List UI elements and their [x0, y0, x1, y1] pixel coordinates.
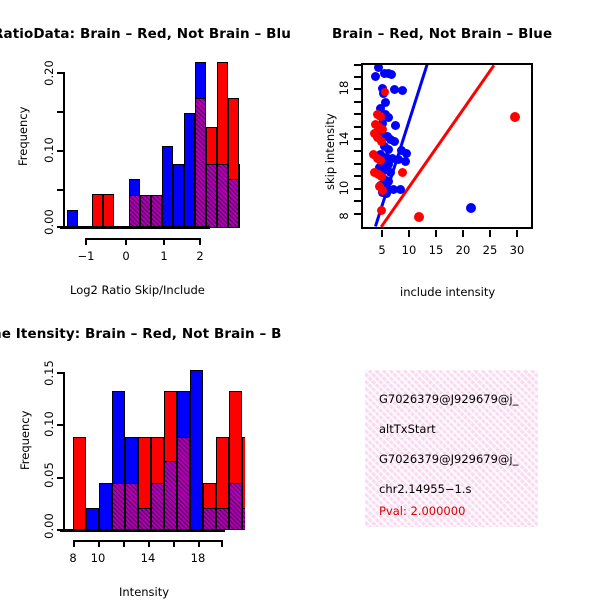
panel-intensity-histogram: ne Itensity: Brain – Red, Not Brain – B … — [0, 300, 300, 600]
bar-blue — [86, 508, 99, 530]
bar-purple — [140, 195, 151, 228]
intensity-ytick-0.00: 0.00 — [42, 509, 56, 543]
info-panel: G7026379@J929679@j_ altTxStart G7026379@… — [365, 370, 538, 527]
bar-blue — [173, 164, 184, 228]
ratio-xtick-2: 2 — [185, 249, 215, 263]
scatter-ytick-mark-15 — [354, 126, 361, 128]
bar-blue — [184, 113, 195, 228]
bar-purple — [195, 98, 206, 228]
intensity-xtick-mark-14 — [148, 540, 150, 547]
scatter-xlabel: include intensity — [400, 285, 495, 299]
ratio-ytick-0.20: 0.20 — [42, 56, 56, 90]
scatter-point — [391, 121, 400, 130]
intensity-xtick-mark-16 — [173, 540, 175, 547]
scatter-point — [401, 157, 410, 166]
bar-purple — [216, 508, 229, 530]
panel-info: G7026379@J929679@j_ altTxStart G7026379@… — [300, 300, 600, 600]
bar-red — [103, 194, 114, 228]
bar-purple — [228, 179, 239, 228]
scatter-ytick-mark-20 — [354, 64, 361, 66]
scatter-ytick-mark-9 — [354, 200, 361, 202]
intensity-histogram-ylabel: Frequency — [18, 411, 32, 470]
scatter-xtick-mark-20 — [462, 230, 464, 237]
scatter-point — [466, 203, 476, 213]
ratio-histogram-ylabel: Frequency — [16, 107, 30, 166]
scatter-ytick-mark-18 — [354, 88, 361, 90]
scatter-point — [398, 86, 407, 95]
scatter-ytick-14: 14 — [337, 126, 351, 152]
bar-red — [73, 437, 86, 530]
scatter-ytick-mark-13 — [354, 150, 361, 152]
bar-red — [239, 164, 240, 228]
info-line-3: G7026379@J929679@j_ — [379, 452, 518, 466]
panel-ratio-histogram: RatioData: Brain – Red, Not Brain – Blu … — [0, 0, 300, 300]
intensity-xtick-10: 10 — [84, 551, 112, 565]
ratio-xtick--1: −1 — [71, 249, 101, 263]
scatter-ytick-mark-10 — [354, 188, 361, 190]
bar-purple — [206, 164, 217, 228]
bar-blue — [99, 483, 112, 530]
scatter-ytick-18: 18 — [337, 75, 351, 101]
scatter-point — [377, 137, 386, 146]
scatter-xtick-mark-15 — [435, 230, 437, 237]
intensity-xtick-mark-8 — [73, 540, 75, 547]
scatter-plot-area — [363, 65, 531, 227]
scatter-ytick-mark-8 — [354, 213, 361, 215]
figure-canvas: RatioData: Brain – Red, Not Brain – Blu … — [0, 0, 600, 600]
scatter-ytick-mark-19 — [354, 76, 361, 78]
intensity-xtick-mark-20 — [221, 540, 223, 547]
scatter-ytick-10: 10 — [337, 175, 351, 201]
intensity-ytick-0.05: 0.05 — [42, 458, 56, 492]
intensity-xtick-mark-12 — [123, 540, 125, 547]
bar-red — [92, 194, 103, 228]
scatter-ytick-mark-12 — [354, 163, 361, 165]
scatter-point — [378, 186, 387, 195]
scatter-xtick-mark-10 — [408, 230, 410, 237]
scatter-ylabel: skip intensity — [323, 113, 337, 190]
bar-purple — [203, 508, 216, 530]
ratio-baseline — [60, 226, 210, 229]
bar-purple — [151, 483, 164, 530]
scatter-xtick-mark-25 — [489, 230, 491, 237]
ratio-histogram-xlabel: Log2 Ratio Skip/Include — [70, 283, 205, 297]
bar-purple — [125, 483, 138, 530]
info-line-2: altTxStart — [379, 422, 436, 436]
scatter-xtick-mark-30 — [516, 230, 518, 237]
intensity-xtick-14: 14 — [134, 551, 162, 565]
bar-purple — [217, 164, 228, 228]
scatter-point — [414, 212, 424, 222]
intensity-ytick-0.15: 0.15 — [42, 356, 56, 390]
scatter-point — [387, 70, 396, 79]
bar-blue — [190, 370, 203, 530]
ratio-xtick-mark-2 — [199, 238, 201, 245]
intensity-histogram-plot-area — [60, 360, 245, 532]
intensity-histogram-xlabel: Intensity — [119, 585, 169, 599]
scatter-xtick-30: 30 — [503, 243, 531, 257]
scatter-xtick-15: 15 — [422, 243, 450, 257]
panel-intensity-scatter: Brain – Red, Not Brain – Blue skip inten… — [300, 0, 600, 300]
ratio-ytick-0.00: 0.00 — [42, 205, 56, 239]
bar-purple — [151, 195, 162, 228]
scatter-ytick-mark-14 — [354, 138, 361, 140]
scatter-xtick-5: 5 — [368, 243, 396, 257]
intensity-baseline — [60, 529, 225, 532]
scatter-title: Brain – Red, Not Brain – Blue — [332, 26, 552, 42]
bar-purple — [129, 195, 140, 228]
info-line-4: chr2.14955−1.s — [379, 482, 472, 496]
ratio-xtick-mark-0 — [125, 238, 127, 245]
intensity-ytick-0.10: 0.10 — [42, 407, 56, 441]
intensity-histogram-title: ne Itensity: Brain – Red, Not Brain – B — [0, 326, 282, 342]
scatter-point — [396, 185, 405, 194]
scatter-ytick-8: 8 — [337, 203, 351, 229]
ratio-histogram-title: RatioData: Brain – Red, Not Brain – Blu — [0, 26, 291, 42]
bar-purple — [138, 508, 151, 530]
scatter-point — [398, 168, 407, 177]
scatter-ytick-mark-11 — [354, 175, 361, 177]
scatter-ytick-mark-16 — [354, 113, 361, 115]
scatter-point — [371, 72, 380, 81]
intensity-xtick-mark-18 — [198, 540, 200, 547]
bar-blue — [162, 146, 173, 228]
info-line-1: G7026379@J929679@j_ — [379, 392, 518, 406]
ratio-xtick-mark--1 — [85, 238, 87, 245]
scatter-xtick-10: 10 — [395, 243, 423, 257]
scatter-xtick-20: 20 — [449, 243, 477, 257]
ratio-histogram-plot-area — [60, 60, 240, 230]
scatter-point — [376, 156, 385, 165]
bar-purple — [164, 461, 177, 530]
ratio-xtick-mark-1 — [163, 238, 165, 245]
ratio-xtick-0: 0 — [111, 249, 141, 263]
ratio-xtick-1: 1 — [149, 249, 179, 263]
ratio-ytick-0.10: 0.10 — [42, 133, 56, 167]
ratio-xaxis — [85, 238, 201, 240]
scatter-point — [381, 88, 389, 96]
scatter-point — [377, 172, 386, 181]
scatter-point — [377, 206, 386, 215]
bar-purple — [177, 437, 190, 530]
intensity-xtick-8: 8 — [59, 551, 87, 565]
intensity-xtick-mark-10 — [98, 540, 100, 547]
bar-purple — [112, 483, 125, 530]
scatter-ytick-mark-17 — [354, 101, 361, 103]
info-pval: Pval: 2.000000 — [379, 504, 465, 518]
scatter-xtick-25: 25 — [476, 243, 504, 257]
scatter-point — [510, 112, 520, 122]
scatter-xtick-mark-5 — [381, 230, 383, 237]
bar-purple — [229, 483, 242, 530]
intensity-xtick-18: 18 — [184, 551, 212, 565]
scatter-point — [390, 137, 399, 146]
bar-purple — [242, 508, 245, 530]
